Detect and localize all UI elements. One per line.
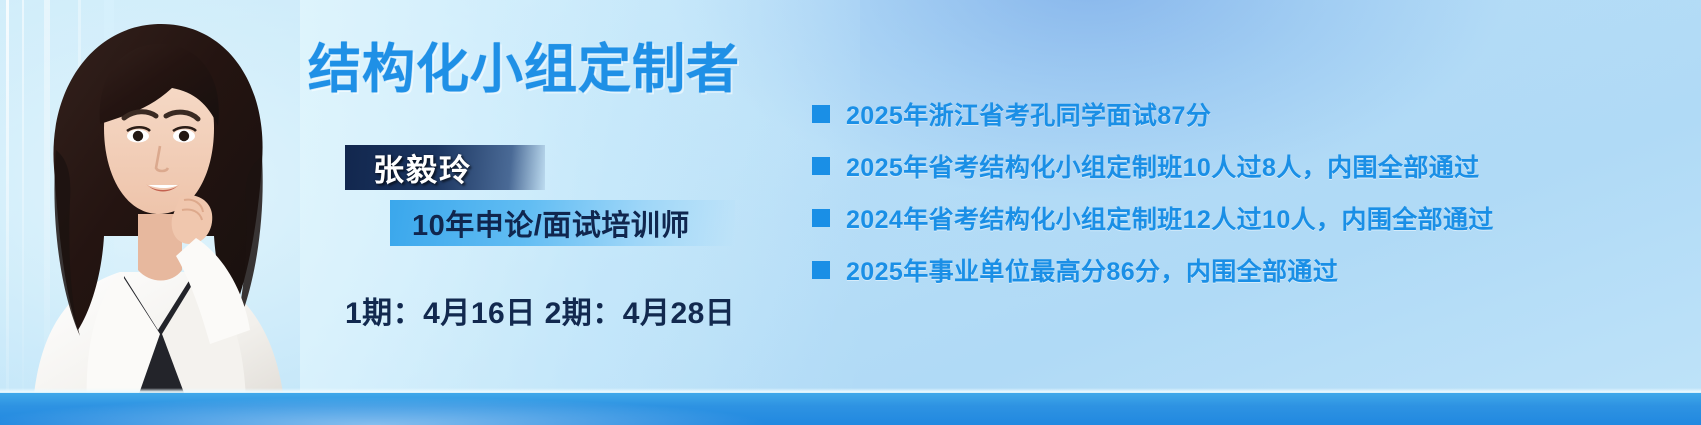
achievement-text: 2025年事业单位最高分86分，内围全部通过	[846, 252, 1338, 288]
achievement-text: 2025年浙江省考孔同学面试87分	[846, 96, 1211, 132]
list-item: 2025年省考结构化小组定制班10人过8人，内围全部通过	[812, 140, 1682, 192]
square-bullet-icon	[812, 209, 830, 227]
list-item: 2025年浙江省考孔同学面试87分	[812, 88, 1682, 140]
square-bullet-icon	[812, 261, 830, 279]
instructor-name: 张毅玲	[373, 145, 472, 190]
instructor-name-badge: 张毅玲	[345, 145, 545, 190]
promo-banner: 结构化小组定制者 张毅玲 10年申论/面试培训师 1期：4月16日 2期：4月2…	[0, 0, 1701, 425]
bottom-strip	[0, 393, 1701, 425]
list-item: 2024年省考结构化小组定制班12人过10人，内围全部通过	[812, 192, 1682, 244]
bottom-strip-glow	[0, 393, 1701, 425]
achievements-list: 2025年浙江省考孔同学面试87分 2025年省考结构化小组定制班10人过8人，…	[812, 88, 1682, 296]
avatar	[0, 0, 318, 425]
achievement-text: 2024年省考结构化小组定制班12人过10人，内围全部通过	[846, 200, 1494, 236]
square-bullet-icon	[812, 105, 830, 123]
square-bullet-icon	[812, 157, 830, 175]
list-item: 2025年事业单位最高分86分，内围全部通过	[812, 244, 1682, 296]
instructor-role: 10年申论/面试培训师	[412, 202, 690, 244]
achievement-text: 2025年省考结构化小组定制班10人过8人，内围全部通过	[846, 148, 1480, 184]
page-title: 结构化小组定制者	[308, 43, 740, 96]
headline-block: 结构化小组定制者 张毅玲 10年申论/面试培训师 1期：4月16日 2期：4月2…	[300, 0, 820, 425]
instructor-role-badge: 10年申论/面试培训师	[390, 200, 735, 246]
session-dates: 1期：4月16日 2期：4月28日	[345, 288, 735, 332]
